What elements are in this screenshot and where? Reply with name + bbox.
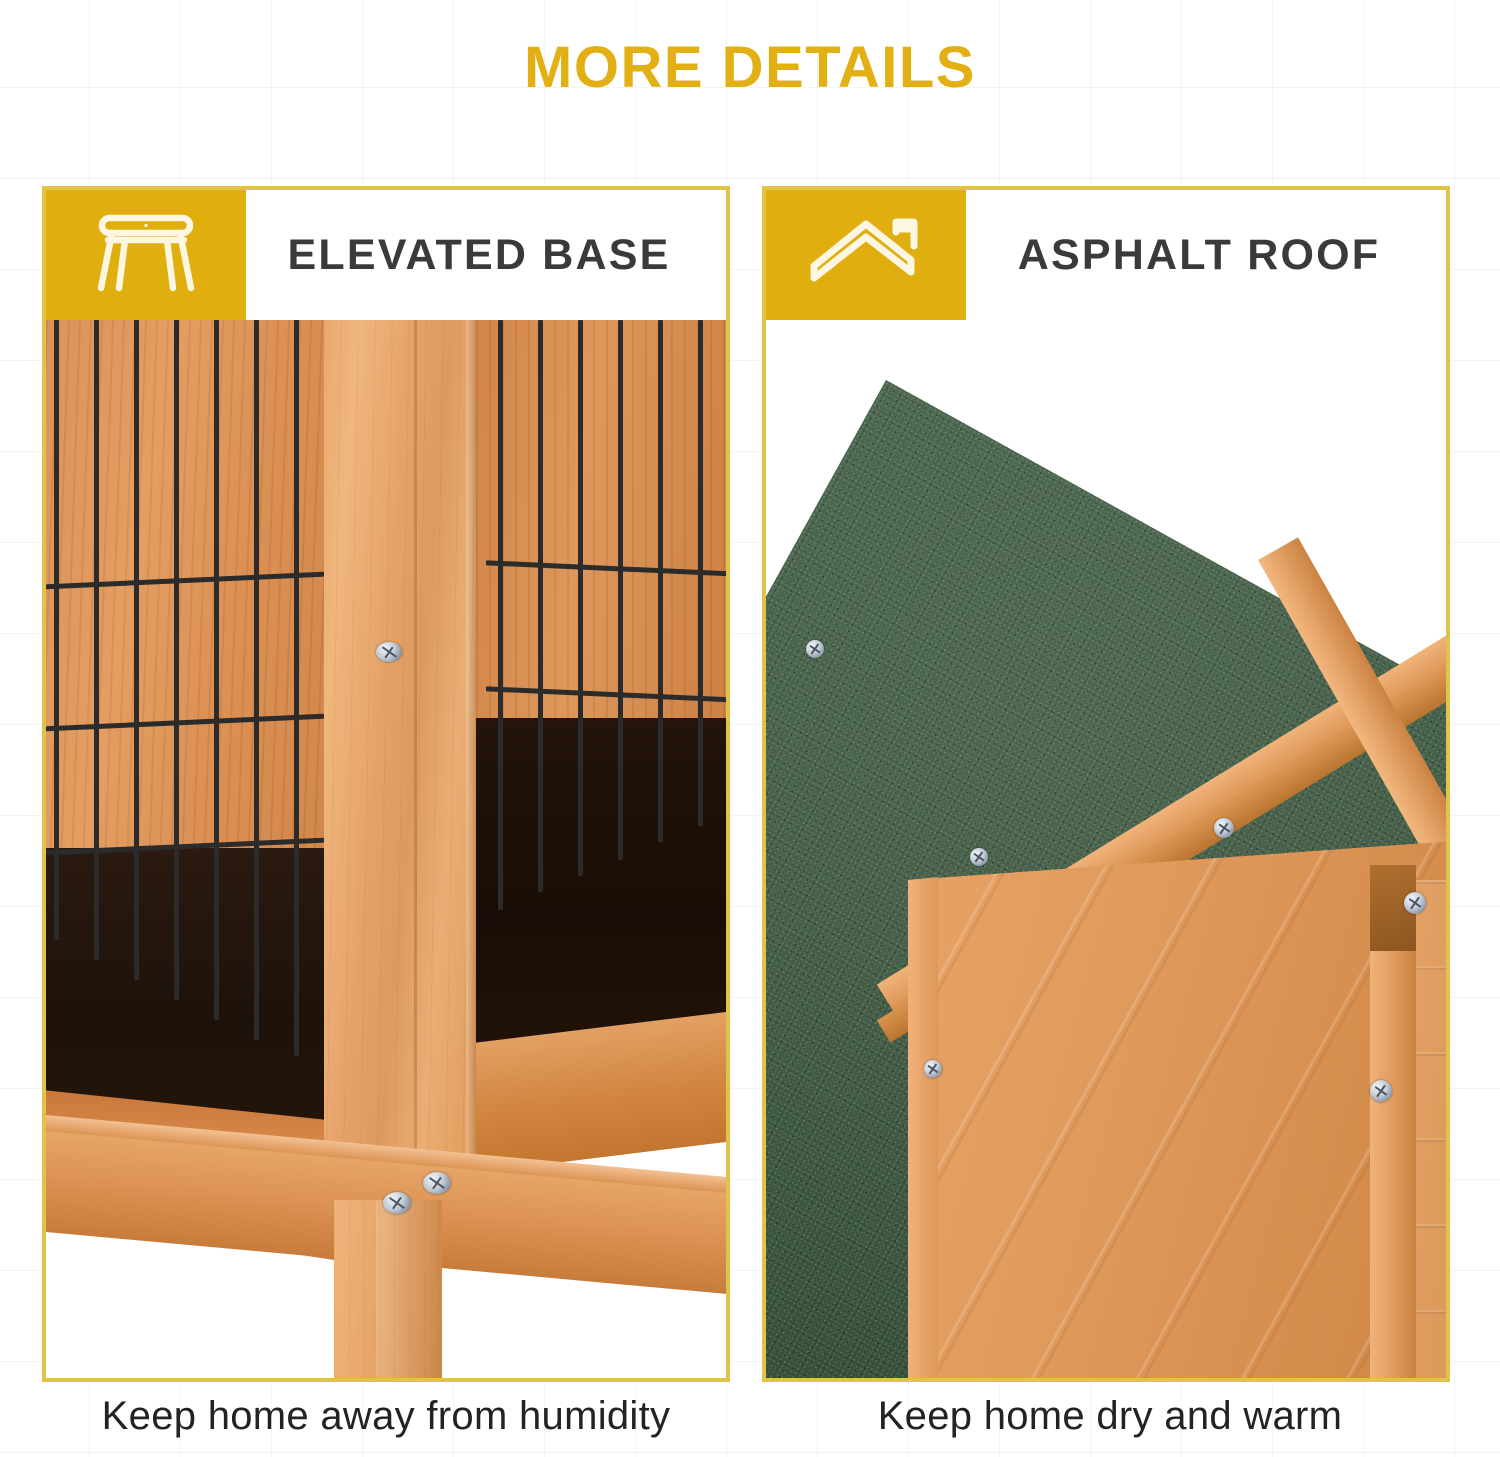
interior-wall-left-texture: [46, 320, 324, 860]
caption-asphalt-roof: Keep home dry and warm: [760, 1394, 1460, 1439]
center-post-grain: [324, 320, 476, 1210]
front-panel-stile: [908, 840, 938, 1382]
badge-asphalt-roof: [766, 190, 966, 320]
center-post-seam: [414, 320, 417, 1210]
screw-roof-left: [806, 640, 824, 658]
screw-trim-mid: [1214, 818, 1234, 838]
screw-front-lower: [924, 1060, 942, 1078]
front-panel-plank-lines: [908, 840, 1446, 1382]
page-title: MORE DETAILS: [0, 34, 1500, 101]
asphalt-roof-photo: [766, 320, 1446, 1382]
badge-elevated-base: [46, 190, 246, 320]
panel-title-elevated-base: ELEVATED BASE: [246, 190, 726, 320]
feature-panel-elevated-base: ELEVATED BASE: [42, 186, 730, 1382]
screw-corner-upper: [1404, 892, 1426, 914]
panel-header-elevated-base: ELEVATED BASE: [46, 190, 726, 320]
screw-leg-left: [383, 1192, 411, 1214]
elevated-leg-grain: [334, 1200, 442, 1382]
screw-leg-right: [423, 1172, 451, 1194]
screw-post-upper: [376, 642, 402, 662]
center-post-edge: [466, 320, 476, 1210]
screw-corner-lower: [1370, 1080, 1392, 1102]
elevated-base-photo: [46, 320, 726, 1382]
roof-chimney-icon: [808, 216, 924, 295]
table-stand-icon: [92, 210, 200, 301]
caption-elevated-base: Keep home away from humidity: [36, 1394, 736, 1439]
panel-header-asphalt-roof: ASPHALT ROOF: [766, 190, 1446, 320]
interior-wall-right-texture: [476, 320, 726, 740]
feature-panel-asphalt-roof: ASPHALT ROOF: [762, 186, 1450, 1382]
panel-title-asphalt-roof: ASPHALT ROOF: [966, 190, 1446, 320]
screw-front-upper: [970, 848, 988, 866]
